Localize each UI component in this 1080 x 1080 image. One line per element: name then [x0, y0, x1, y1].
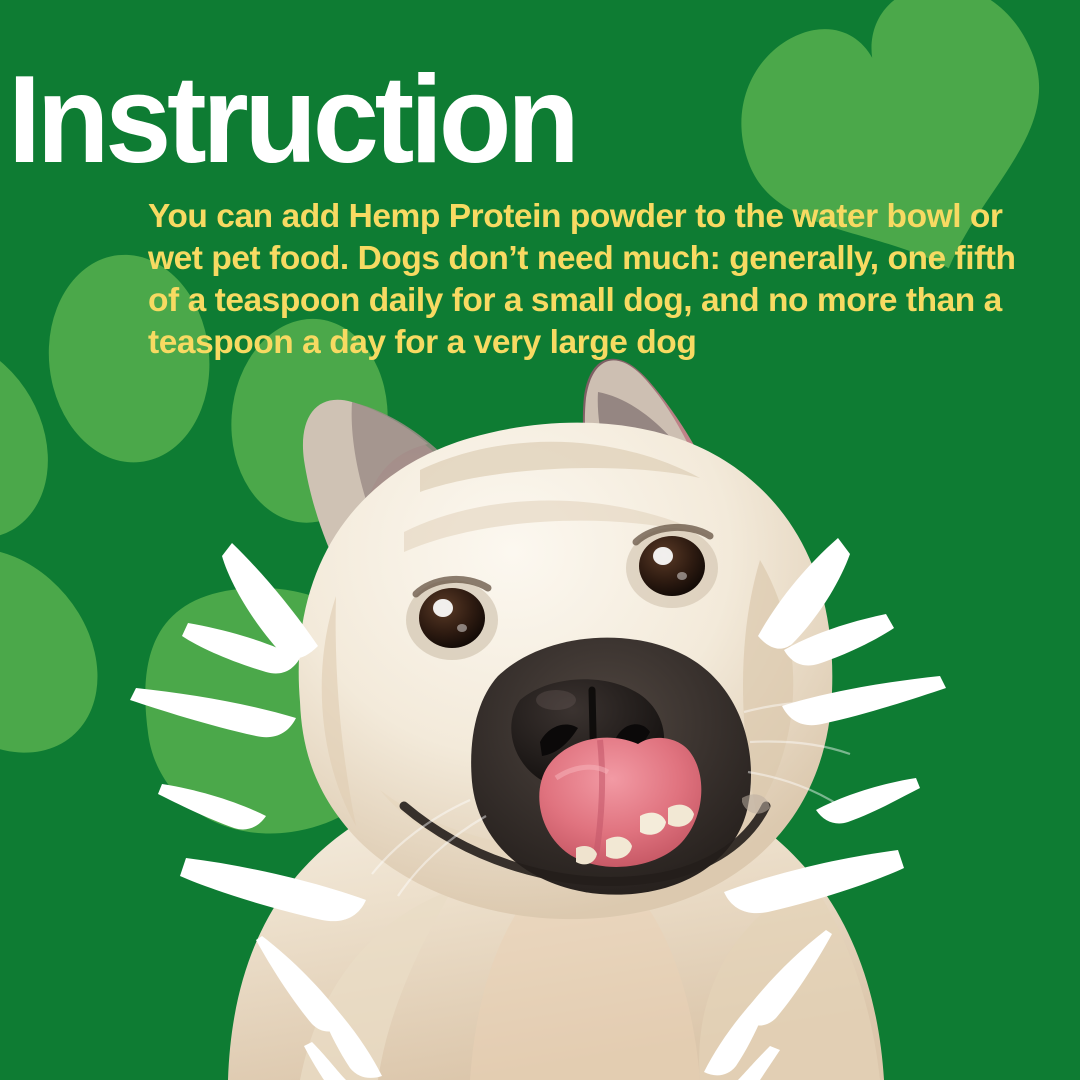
- instruction-poster: Instruction You can add Hemp Protein pow…: [0, 0, 1080, 1080]
- dog-right-eye: [626, 527, 718, 608]
- dog-head: [299, 423, 850, 919]
- dog-left-eye: [406, 579, 498, 660]
- dog-photo: [0, 0, 1080, 1080]
